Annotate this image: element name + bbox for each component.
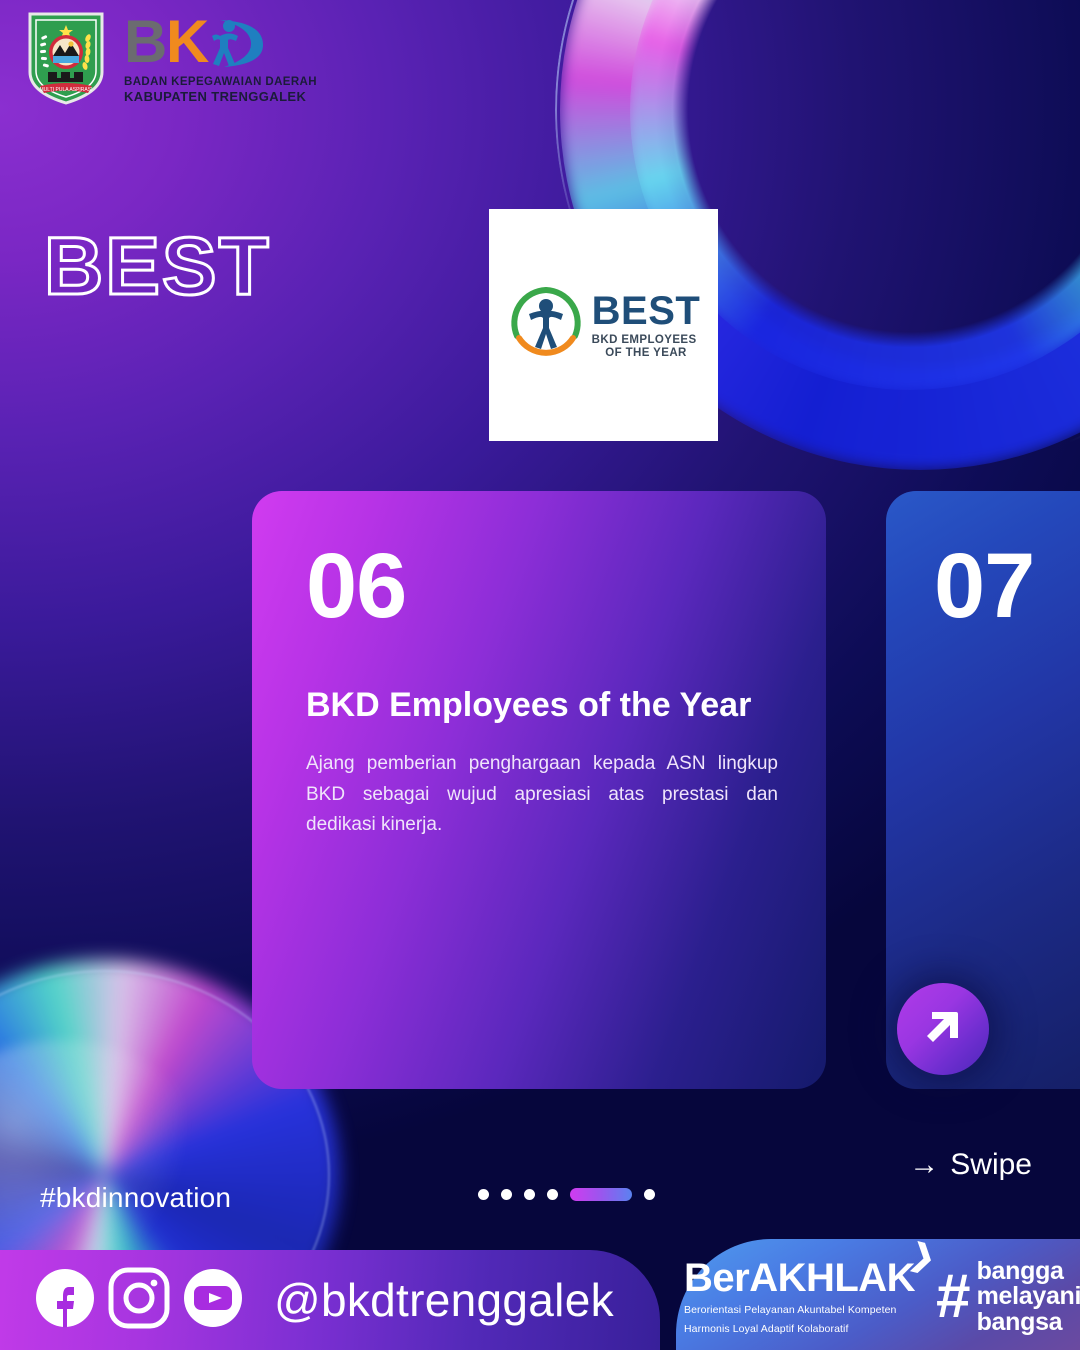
pagination-dot[interactable] — [547, 1189, 558, 1200]
social-bar: @bkdtrenggalek — [0, 1250, 660, 1350]
poster-canvas: MULTI PULA ASPIRASI B K BADAN KEPEGAWAIA… — [0, 0, 1080, 1350]
bkd-logotype-icon: B K — [124, 12, 317, 74]
hash-icon: # — [935, 1269, 969, 1325]
bangga-line-3: bangsa — [977, 1310, 1080, 1336]
berakhlak-title: BerAKHLAK ❯ — [684, 1258, 915, 1298]
svg-text:MULTI PULA ASPIRASI: MULTI PULA ASPIRASI — [40, 87, 93, 93]
pagination-dots[interactable] — [478, 1188, 655, 1201]
social-icon-group — [34, 1267, 244, 1334]
berakhlak-badge: BerAKHLAK ❯ Berorientasi Pelayanan Akunt… — [684, 1258, 1080, 1336]
social-handle: @bkdtrenggalek — [274, 1273, 614, 1327]
card-07-number: 07 — [934, 543, 1080, 630]
person-in-circle-icon — [507, 284, 585, 367]
svg-text:B: B — [124, 12, 167, 74]
best-logo-tagline-1: BKD EMPLOYEES — [592, 335, 701, 347]
bangga-line-2: melayani — [977, 1284, 1080, 1310]
card-06-description: Ajang pemberian penghargaan kepada ASN l… — [306, 749, 778, 841]
card-06-number: 06 — [306, 543, 778, 630]
best-logo-card: BEST BKD EMPLOYEES OF THE YEAR — [489, 209, 718, 441]
berakhlak-title-text: BerAKHLAK — [684, 1256, 915, 1300]
pagination-dot[interactable] — [524, 1189, 535, 1200]
swipe-indicator: → Swipe — [909, 1148, 1032, 1182]
pagination-dot[interactable] — [478, 1189, 489, 1200]
berakhlak-subtitle-1: Berorientasi Pelayanan Akuntabel Kompete… — [684, 1303, 915, 1317]
card-06[interactable]: 06 BKD Employees of the Year Ajang pembe… — [252, 491, 826, 1089]
bkd-subtitle-line2: KABUPATEN TRENGGALEK — [124, 90, 317, 104]
berakhlak-subtitle-2: Harmonis Loyal Adaptif Kolaboratif — [684, 1322, 915, 1336]
next-slide-button[interactable] — [897, 983, 989, 1075]
youtube-icon[interactable] — [182, 1267, 244, 1334]
bkd-wordmark: B K BADAN KEPEGAWAIAN DAERAH KABUPATEN T… — [124, 12, 317, 105]
trenggalek-crest-icon: MULTI PULA ASPIRASI — [26, 10, 106, 106]
hero-outline-title: BEST — [44, 226, 271, 308]
arrow-right-icon: → — [909, 1150, 939, 1180]
facebook-icon[interactable] — [34, 1267, 96, 1334]
svg-text:K: K — [166, 12, 209, 74]
chevron-right-icon: ❯ — [907, 1239, 938, 1274]
pagination-dot[interactable] — [501, 1189, 512, 1200]
best-logo-title: BEST — [592, 291, 701, 331]
card-06-title: BKD Employees of the Year — [306, 678, 776, 732]
swipe-label: Swipe — [950, 1148, 1032, 1182]
hashtag-label: #bkdinnovation — [40, 1182, 231, 1214]
bangga-line-1: bangga — [977, 1259, 1080, 1285]
bangga-melayani-bangsa-logo: # bangga melayani bangsa — [935, 1259, 1080, 1336]
brand-header: MULTI PULA ASPIRASI B K BADAN KEPEGAWAIA… — [26, 10, 317, 106]
instagram-icon[interactable] — [108, 1267, 170, 1334]
diagonal-arrow-up-right-icon — [920, 1004, 966, 1055]
best-logo-tagline-2: OF THE YEAR — [592, 348, 701, 360]
pagination-dot[interactable] — [644, 1189, 655, 1200]
bkd-subtitle-line1: BADAN KEPEGAWAIAN DAERAH — [124, 76, 317, 89]
pagination-dot-active[interactable] — [570, 1188, 632, 1201]
